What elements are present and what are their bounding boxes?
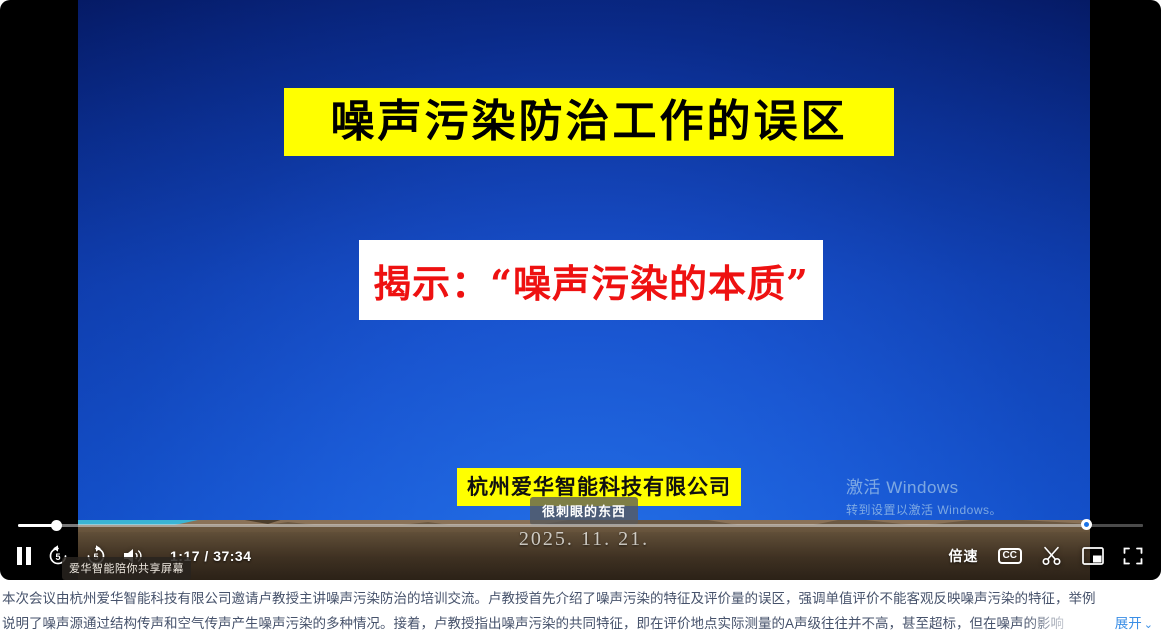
windows-activation-watermark: 激活 Windows 转到设置以激活 Windows。 — [846, 473, 1002, 518]
progress-scrubber[interactable] — [18, 524, 1143, 527]
progress-bar-row — [0, 518, 1161, 532]
fullscreen-icon — [1123, 547, 1143, 565]
video-player[interactable]: 噪声污染防治工作的误区 揭示：“噪声污染的本质” 杭州爱华智能科技有限公司 很刺… — [0, 0, 1161, 580]
chevron-down-icon: ⌄ — [1144, 619, 1153, 631]
pause-button[interactable] — [16, 546, 32, 566]
video-page: 噪声污染防治工作的误区 揭示：“噪声污染的本质” 杭州爱华智能科技有限公司 很刺… — [0, 0, 1161, 637]
clip-button[interactable] — [1041, 546, 1063, 566]
volume-slider[interactable] — [1081, 520, 1143, 531]
volume-handle[interactable] — [1081, 519, 1092, 530]
presentation-slide: 噪声污染防治工作的误区 揭示：“噪声污染的本质” — [78, 0, 1090, 520]
video-stage[interactable]: 噪声污染防治工作的误区 揭示：“噪声污染的本质” 杭州爱华智能科技有限公司 很刺… — [78, 0, 1090, 580]
slide-subtitle-box: 揭示：“噪声污染的本质” — [359, 240, 823, 320]
pause-icon — [16, 546, 32, 566]
captions-button[interactable]: CC — [998, 548, 1022, 564]
expand-description-button[interactable]: 展开⌄ — [1107, 611, 1153, 636]
pip-icon — [1082, 547, 1104, 565]
video-description: 本次会议由杭州爱华智能科技有限公司邀请卢教授主讲噪声污染防治的培训交流。卢教授首… — [0, 583, 1161, 637]
scissors-icon — [1041, 546, 1063, 566]
watermark-line1: 激活 Windows — [846, 473, 1002, 498]
svg-text:5: 5 — [55, 552, 60, 562]
watermark-line2: 转到设置以激活 Windows。 — [846, 501, 1002, 518]
slide-company-name: 杭州爱华智能科技有限公司 — [467, 474, 731, 499]
slide-title: 噪声污染防治工作的误区 — [331, 100, 848, 144]
description-fade — [1023, 611, 1093, 636]
slide-title-box: 噪声污染防治工作的误区 — [284, 88, 894, 156]
player-controls-right: 倍速 CC — [949, 546, 1161, 566]
picture-in-picture-button[interactable] — [1082, 547, 1104, 565]
tooltip-bottom-left: 爱华智能陪你共享屏幕 — [62, 557, 191, 580]
description-line-2: 说明了噪声源通过结构传声和空气传声产生噪声污染的多种情况。接着，卢教授指出噪声污… — [2, 616, 1064, 631]
fullscreen-button[interactable] — [1123, 547, 1143, 565]
playback-speed-button[interactable]: 倍速 — [949, 546, 979, 566]
description-line-1: 本次会议由杭州爱华智能科技有限公司邀请卢教授主讲噪声污染防治的培训交流。卢教授首… — [2, 586, 1161, 611]
description-line-2-wrap: 说明了噪声源通过结构传声和空气传声产生噪声污染的多种情况。接着，卢教授指出噪声污… — [2, 611, 1161, 636]
progress-handle[interactable] — [51, 520, 62, 531]
expand-label: 展开 — [1115, 616, 1142, 631]
slide-subtitle: 揭示：“噪声污染的本质” — [373, 253, 809, 308]
